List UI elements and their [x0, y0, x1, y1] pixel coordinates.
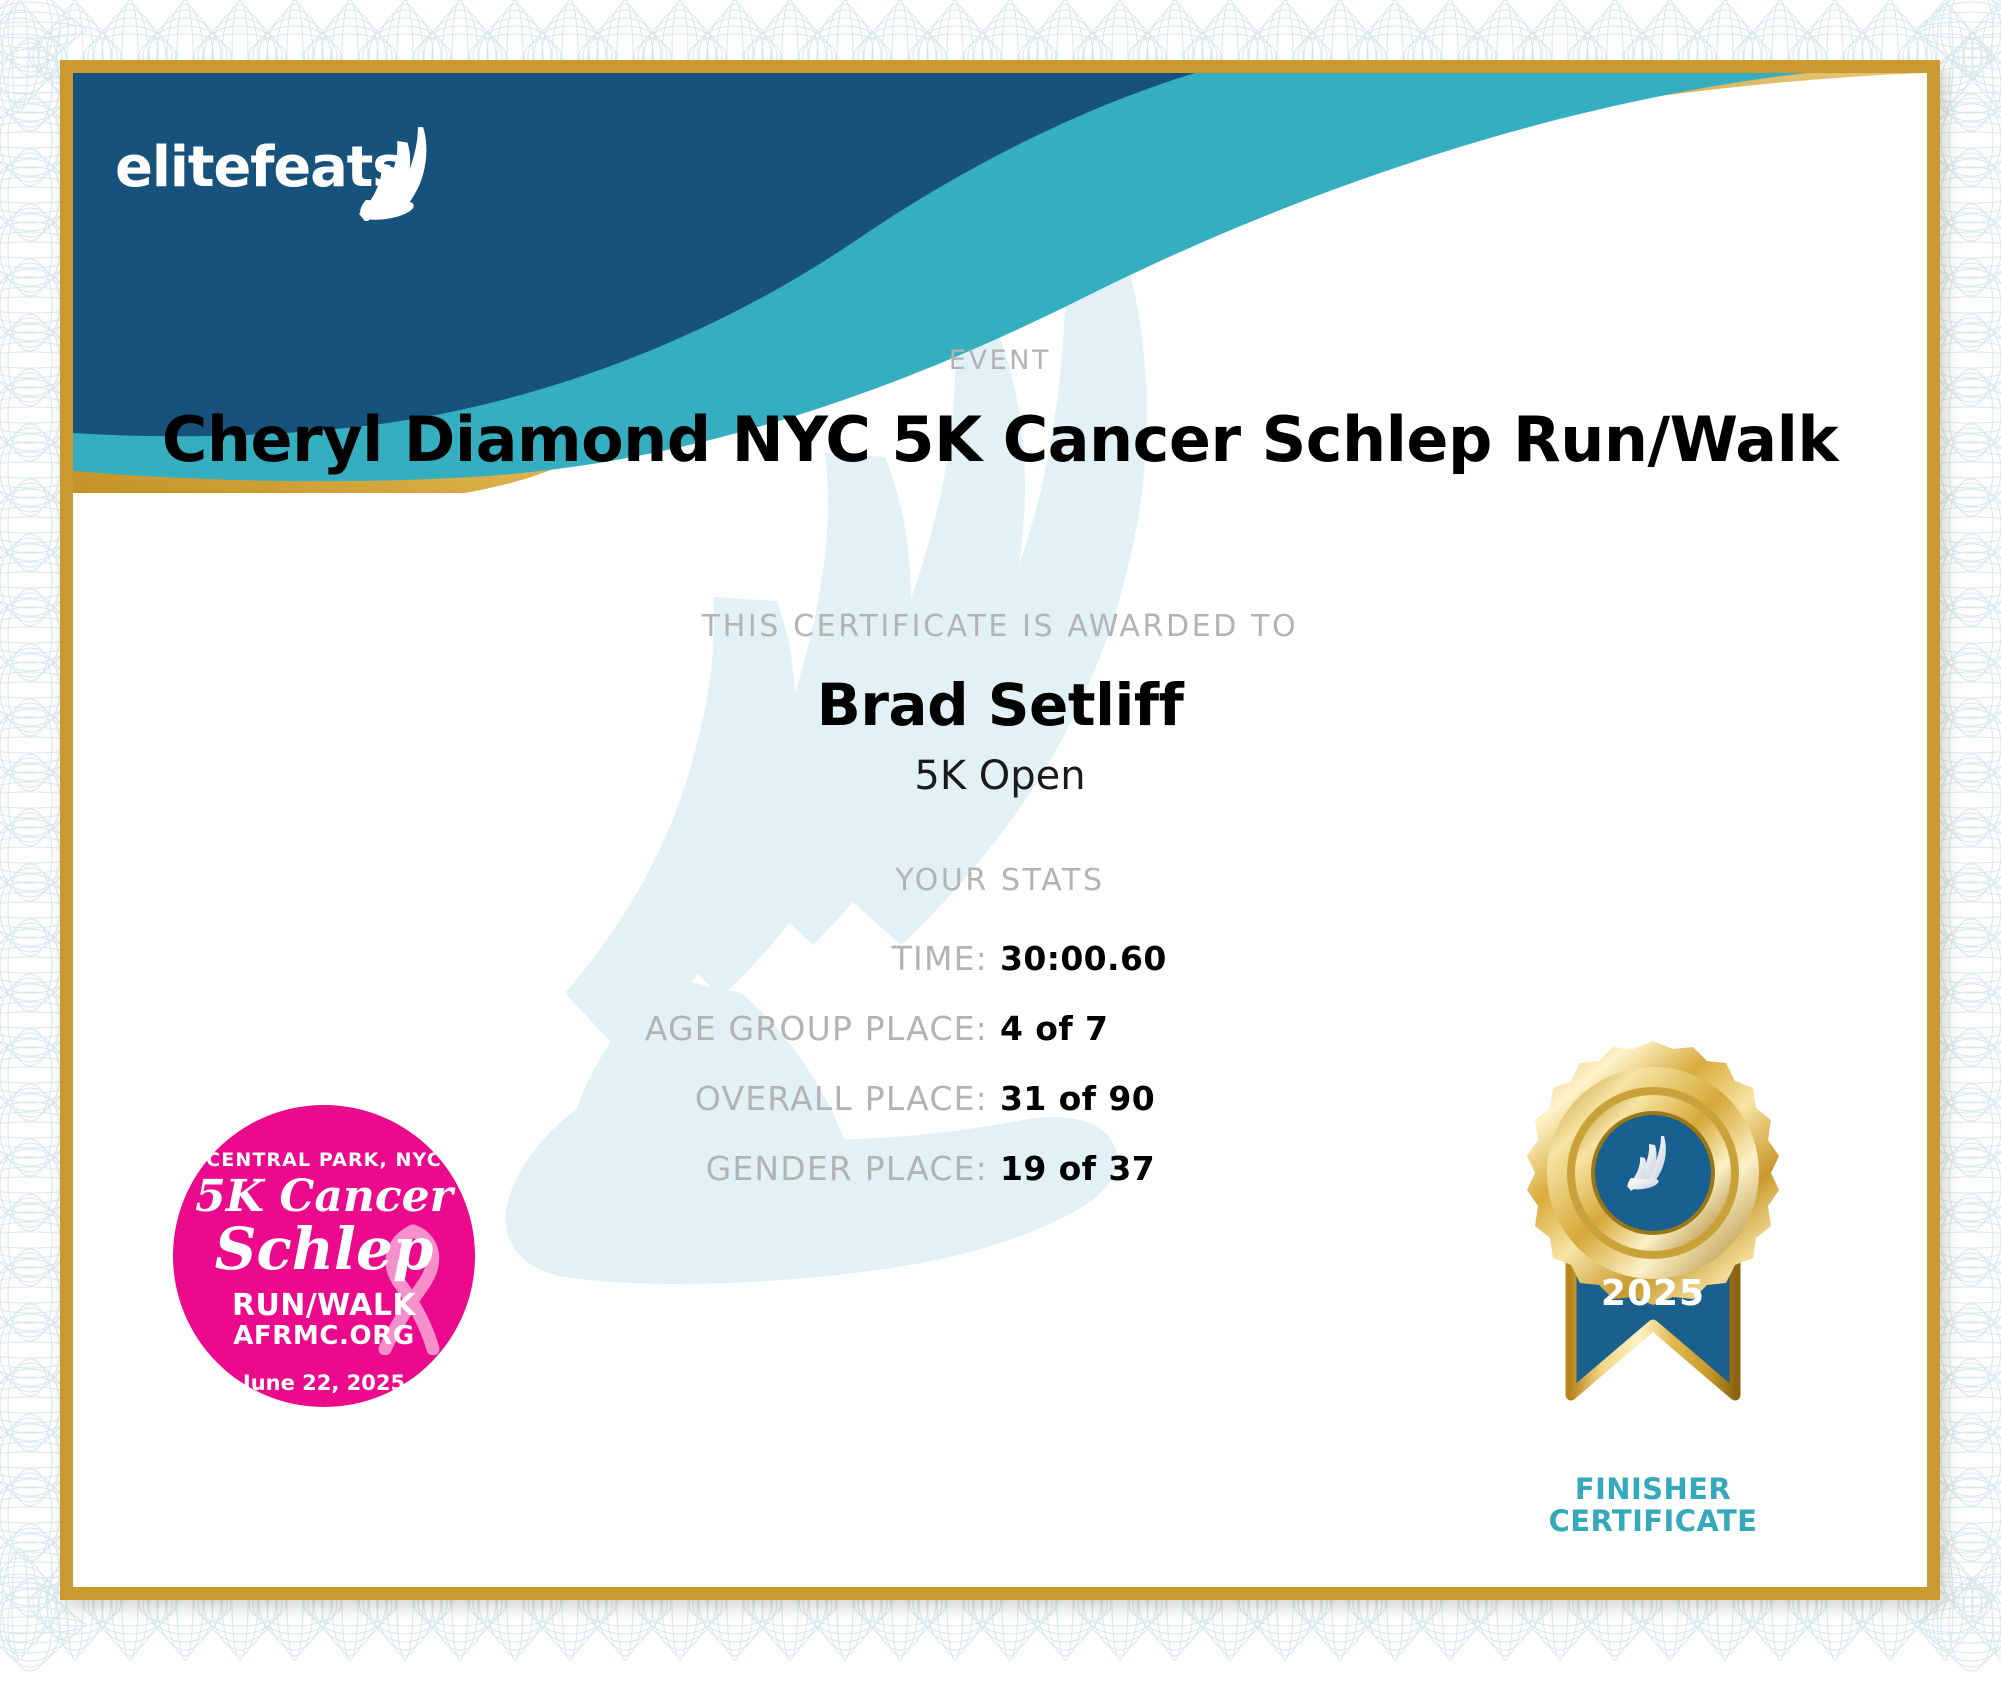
event-logo-badge: CENTRAL PARK, NYC 5K Cancer Schlep RUN/W… — [173, 1105, 475, 1407]
finisher-medal: 2025 — [1513, 1033, 1793, 1453]
event-title: Cheryl Diamond NYC 5K Cancer Schlep Run/… — [133, 403, 1867, 476]
stat-key-overall-place: OVERALL PLACE: — [360, 1079, 1000, 1118]
awarded-to-label: THIS CERTIFICATE IS AWARDED TO — [73, 609, 1927, 644]
certificate-page: elitefeats EVENT Cheryl Diamond NYC 5K C… — [0, 0, 2001, 1700]
event-badge-city: CENTRAL PARK, NYC — [173, 1149, 475, 1171]
event-badge-run-walk: RUN/WALK — [173, 1288, 475, 1323]
medal-caption-line2: CERTIFICATE — [1549, 1504, 1758, 1538]
stat-value-time: 30:00.60 — [1000, 939, 1640, 978]
your-stats-label: YOUR STATS — [73, 863, 1927, 898]
medal-caption: FINISHER CERTIFICATE — [1473, 1473, 1833, 1538]
certificate-frame: elitefeats EVENT Cheryl Diamond NYC 5K C… — [60, 60, 1940, 1600]
event-badge-line2: Schlep — [173, 1215, 475, 1283]
stat-key-age-group-place: AGE GROUP PLACE: — [360, 1009, 1000, 1048]
stat-row-time: TIME: 30:00.60 — [73, 939, 1927, 983]
stat-key-time: TIME: — [360, 939, 1000, 978]
winged-foot-icon — [359, 125, 437, 221]
event-label: EVENT — [73, 345, 1927, 376]
event-badge-url: AFRMC.ORG — [173, 1321, 475, 1351]
svg-text:2025: 2025 — [1601, 1273, 1705, 1314]
elitefeats-logo: elitefeats — [115, 131, 445, 221]
event-badge-date: June 22, 2025 — [173, 1371, 475, 1395]
division-label: 5K Open — [73, 753, 1927, 799]
medal-caption-line1: FINISHER — [1575, 1472, 1731, 1506]
certificate-content: EVENT Cheryl Diamond NYC 5K Cancer Schle… — [73, 73, 1927, 1587]
recipient-name: Brad Setliff — [73, 671, 1927, 739]
